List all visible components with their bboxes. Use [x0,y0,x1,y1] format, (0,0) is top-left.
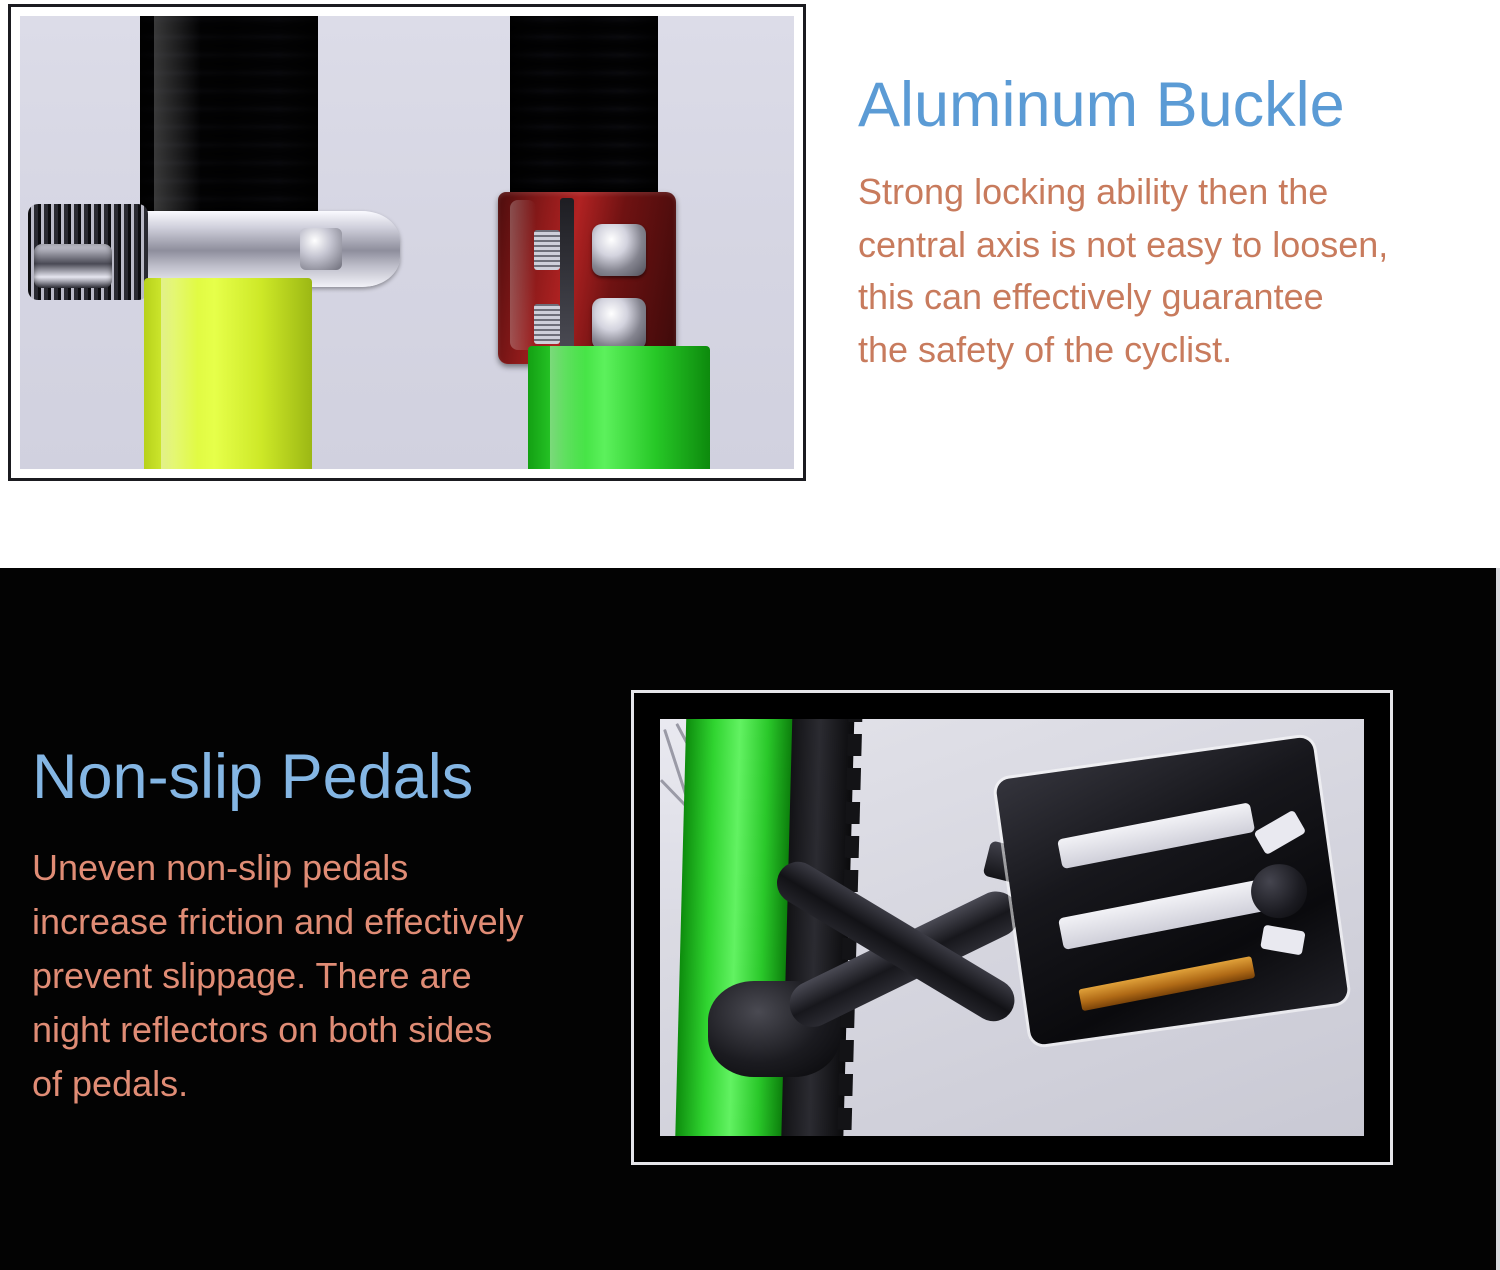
seatpost-clamp-photo-frame [8,4,806,481]
body-line: night reflectors on both sides [32,1003,636,1057]
section-aluminum-buckle: Aluminum Buckle Strong locking ability t… [0,0,1500,568]
rubber-boot-right [510,16,658,200]
quick-release-nut [34,244,112,288]
non-slip-pedals-body: Uneven non-slip pedals increase friction… [32,841,636,1111]
aluminum-buckle-body: Strong locking ability then the central … [858,166,1498,376]
body-line: this can effectively guarantee [858,271,1498,324]
right-edge-highlight [1496,568,1500,1270]
bicycle-pedal-photo [660,719,1364,1136]
buckle-bolt-thread-lower [534,304,560,344]
bicycle-pedal-photo-frame [631,690,1393,1165]
body-line: increase friction and effectively [32,895,636,949]
green-seatpost-tube [528,346,710,469]
seatpost-clamp-photo [20,16,794,469]
body-line: prevent slippage. There are [32,949,636,1003]
buckle-split-gap [560,198,574,360]
aluminum-buckle-text-block: Aluminum Buckle Strong locking ability t… [858,72,1498,376]
aluminum-buckle-title: Aluminum Buckle [858,72,1498,138]
buckle-bolt-thread-upper [534,230,560,270]
buckle-bolt-upper [592,224,646,276]
red-aluminum-buckle [498,192,676,364]
pedal-axle-cap [1248,860,1311,921]
buckle-bolt-lower [592,298,646,350]
pedal-slot-lower [1058,879,1266,950]
pedal-slot-upper [1057,802,1255,869]
non-slip-pedals-text-block: Non-slip Pedals Uneven non-slip pedals i… [32,746,636,1111]
body-line: central axis is not easy to loosen, [858,219,1498,272]
body-line: of pedals. [32,1057,636,1111]
yellow-seatpost [144,278,312,469]
pedal-cage-notch-lower [1260,925,1306,956]
rubber-boot-left [140,16,318,225]
non-slip-pedal-body [995,736,1349,1046]
body-line: Strong locking ability then the [858,166,1498,219]
body-line: the safety of the cyclist. [858,324,1498,377]
chrome-clamp-screw [300,228,342,270]
non-slip-pedals-title: Non-slip Pedals [32,746,636,809]
pedal-cage-notch-upper [1253,810,1306,856]
product-infographic: Aluminum Buckle Strong locking ability t… [0,0,1500,1270]
night-reflector [1078,956,1255,1011]
body-line: Uneven non-slip pedals [32,841,636,895]
